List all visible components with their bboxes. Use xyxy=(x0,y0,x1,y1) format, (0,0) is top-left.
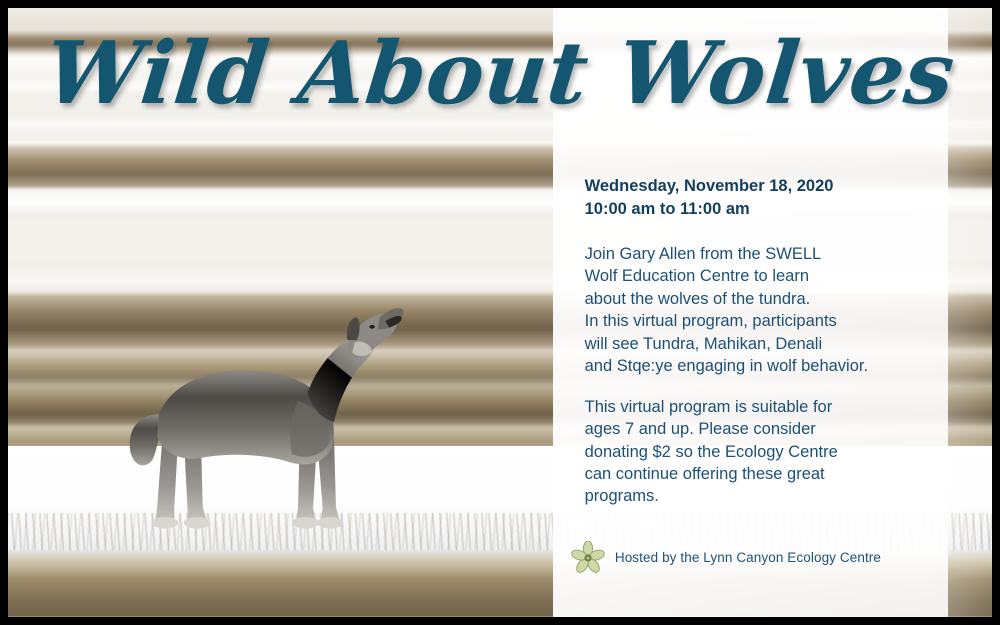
event-details-panel: Wednesday, November 18, 2020 10:00 am to… xyxy=(585,175,910,507)
host-label: Hosted by the Lynn Canyon Ecology Centre xyxy=(615,550,881,565)
description-paragraph-2: In this virtual program, participants wi… xyxy=(585,310,910,377)
description-paragraph-3: This virtual program is suitable for age… xyxy=(585,396,910,508)
howling-wolf xyxy=(121,270,406,538)
description-line: In this virtual program, participants xyxy=(585,312,837,330)
description-paragraph-1: Join Gary Allen from the SWELL Wolf Educ… xyxy=(585,243,910,310)
description-line: about the wolves of the tundra. xyxy=(585,290,811,308)
description-line: will see Tundra, Mahikan, Denali xyxy=(585,335,823,353)
description-line: programs. xyxy=(585,487,659,505)
poster: Wild About Wolves Wednesday, November 18… xyxy=(0,0,1000,625)
event-date: Wednesday, November 18, 2020 xyxy=(585,175,910,198)
description-line: ages 7 and up. Please consider xyxy=(585,420,816,438)
event-datetime: Wednesday, November 18, 2020 10:00 am to… xyxy=(585,175,910,221)
host-credit: Hosted by the Lynn Canyon Ecology Centre xyxy=(571,541,881,575)
description-line: and Stqe:ye engaging in wolf behavior. xyxy=(585,357,868,375)
event-time: 10:00 am to 11:00 am xyxy=(585,198,910,221)
description-line: donating $2 so the Ecology Centre xyxy=(585,443,838,461)
flower-icon xyxy=(571,541,605,575)
description-line: can continue offering these great xyxy=(585,465,825,483)
page-title: Wild About Wolves xyxy=(8,30,992,118)
description-line: Join Gary Allen from the SWELL xyxy=(585,245,822,263)
description-line: This virtual program is suitable for xyxy=(585,398,833,416)
paragraph-spacer xyxy=(585,378,910,396)
description-line: Wolf Education Centre to learn xyxy=(585,267,809,285)
poster-inner: Wild About Wolves Wednesday, November 18… xyxy=(8,8,992,617)
